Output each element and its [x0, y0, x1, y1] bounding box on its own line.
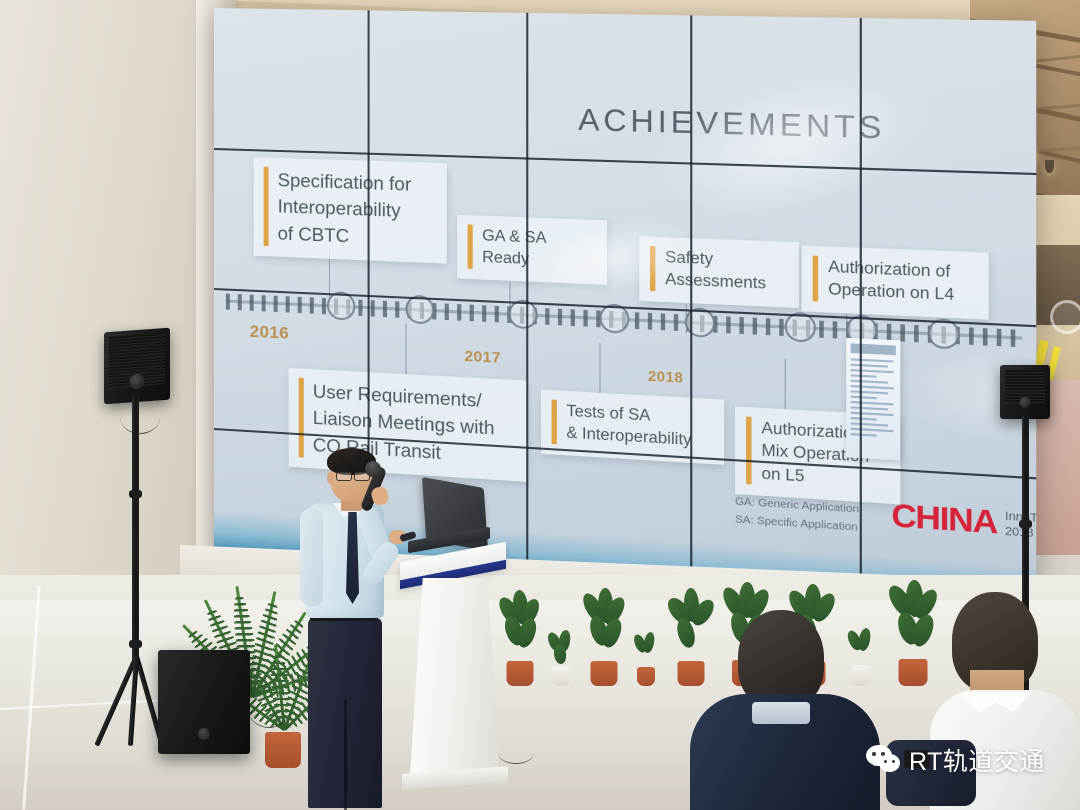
potted-plant — [546, 630, 576, 686]
timeline-stem — [785, 358, 786, 409]
pa-speaker-left — [104, 328, 170, 405]
slide-branding: CHINA InnoTrans 2018 — [891, 500, 1036, 544]
presenter-left-arm — [300, 508, 323, 606]
audience-collar — [752, 702, 810, 724]
accent-bar — [746, 417, 752, 485]
presentation-photo: ACHIEVEMENTS Specification for Interoper… — [0, 0, 1080, 810]
certificate-thumbnail — [846, 338, 900, 461]
stand-height-knob[interactable] — [1019, 520, 1032, 528]
milestone-text: Safety Assessments — [665, 247, 766, 296]
timeline-year-label: 2017 — [464, 348, 501, 367]
presenter-tie — [346, 512, 359, 604]
podium-cable — [498, 742, 534, 764]
timeline-year-label: 2018 — [648, 367, 684, 386]
watermark-text: RT轨道交通 — [909, 742, 1045, 778]
timeline-year-label: 2016 — [250, 322, 289, 344]
milestone-callout: Safety Assessments — [639, 236, 799, 308]
podium-body — [408, 578, 500, 778]
china-logo: CHINA — [891, 500, 997, 539]
palm-pot — [265, 732, 301, 768]
booth-roundel-sign — [1050, 300, 1080, 334]
certificate-header — [851, 343, 896, 355]
stand-height-knob[interactable] — [129, 490, 142, 498]
milestone-text: Authorization of Operation on L4 — [828, 256, 954, 307]
accent-bar — [552, 400, 557, 445]
speaker-cable — [120, 400, 160, 434]
speaker-driver — [130, 373, 145, 389]
speaker-driver — [1020, 397, 1031, 408]
eyeglasses-icon — [336, 472, 352, 481]
accent-bar — [650, 246, 655, 291]
pa-speaker-right — [1000, 365, 1050, 419]
wechat-watermark: RT轨道交通 — [866, 742, 1045, 778]
timeline-stem — [599, 343, 600, 393]
stand-height-knob[interactable] — [129, 640, 142, 648]
slide-title: ACHIEVEMENTS — [578, 103, 885, 147]
milestone-callout: Specification for Interoperability of CB… — [254, 157, 447, 263]
audience-member-navy — [690, 610, 880, 810]
accent-bar — [468, 224, 473, 268]
accent-bar — [264, 167, 269, 246]
subwoofer-driver — [198, 728, 210, 740]
potted-plant — [498, 590, 542, 686]
milestone-text: Tests of SA & Interoperability — [566, 400, 691, 452]
presenter-leg-split — [344, 700, 347, 810]
speaker-stand-pole — [132, 396, 139, 664]
milestone-text: GA & SA Ready — [482, 225, 546, 272]
potted-plant — [582, 588, 626, 686]
presenter-ear — [327, 472, 334, 484]
potted-plant — [632, 632, 660, 686]
ceiling-spot-lamp — [1045, 160, 1054, 173]
milestone-callout: User Requirements/ Liaison Meetings with… — [289, 368, 528, 482]
milestone-callout: GA & SA Ready — [457, 215, 607, 285]
accent-bar — [813, 255, 819, 301]
speaker-cable — [246, 680, 292, 728]
milestone-text: Specification for Interoperability of CB… — [278, 167, 412, 252]
slide-legend: GA: Generic Application SA: Specific App… — [735, 493, 859, 538]
accent-bar — [299, 378, 304, 458]
timeline-stem — [405, 323, 406, 374]
subwoofer-left — [158, 650, 250, 754]
wechat-icon — [866, 745, 900, 775]
milestone-callout: Authorization of Operation on L4 — [801, 245, 988, 319]
